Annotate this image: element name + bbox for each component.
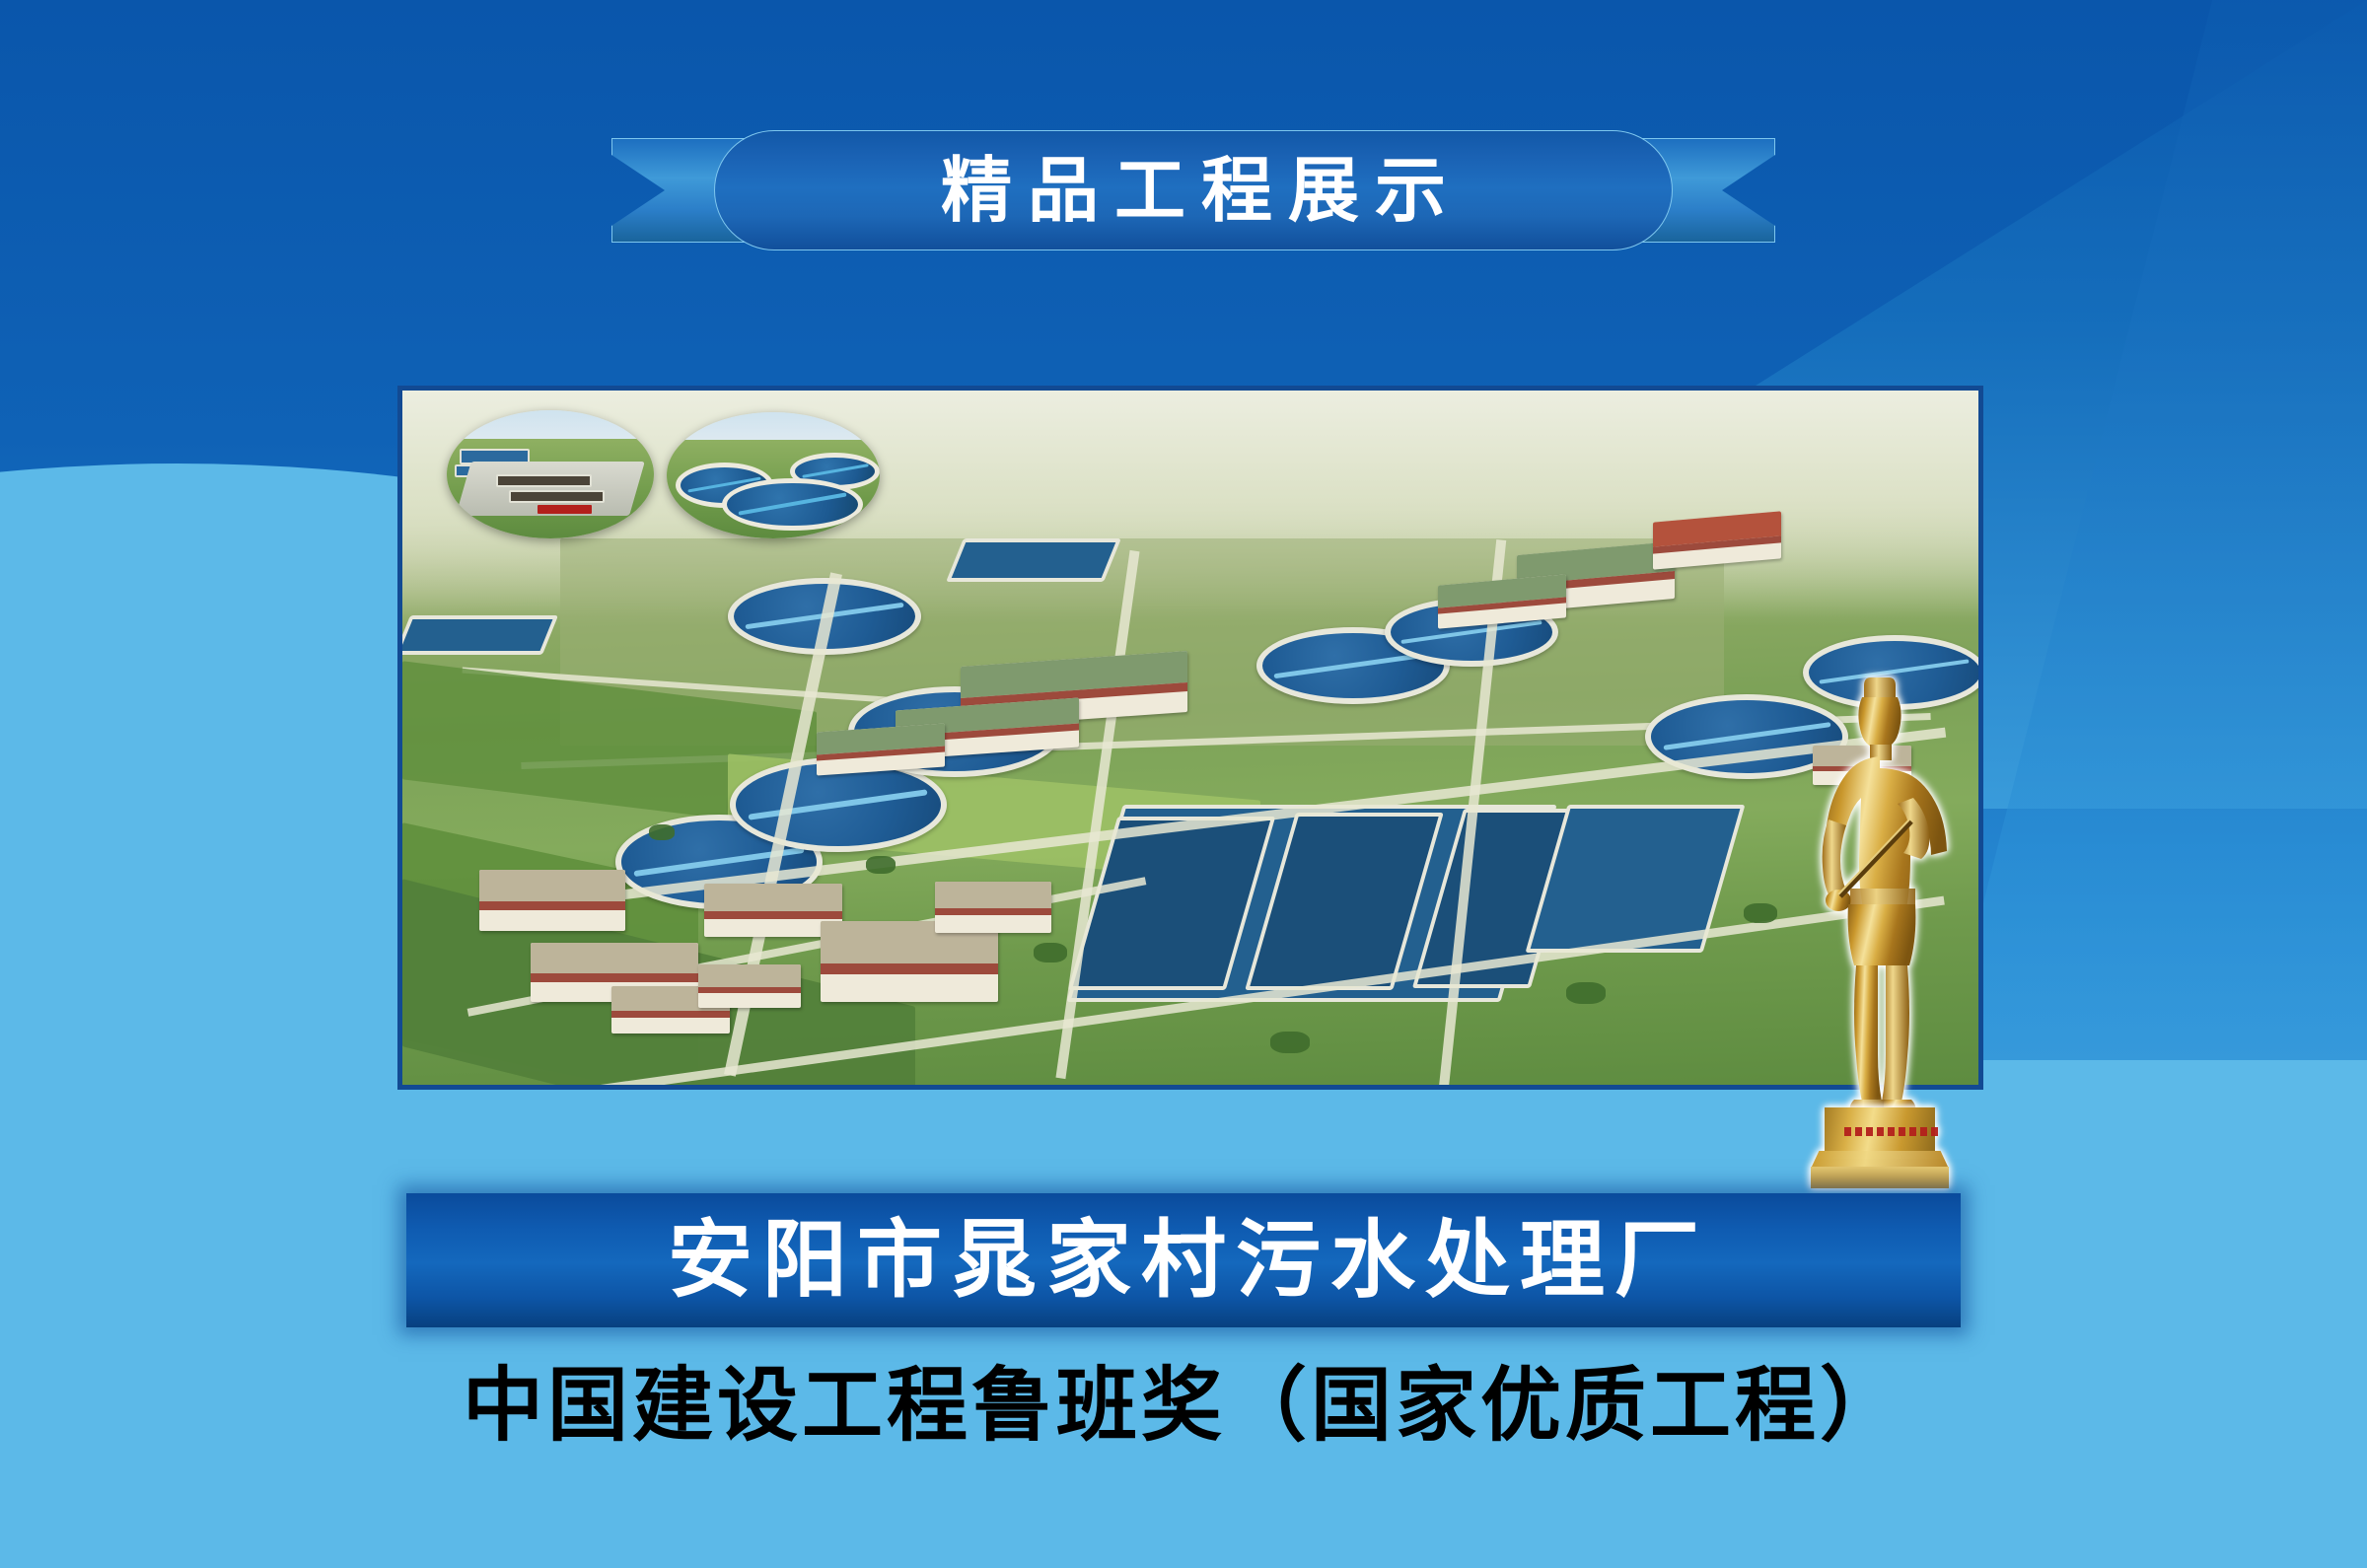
page-title: 精品工程展示 [925,155,1462,226]
banner-pill: 精品工程展示 [714,130,1673,250]
building [817,723,945,775]
trophy-figure-icon [1815,676,1947,1119]
inset-clarifier [722,478,863,532]
trophy-base-block [1825,1107,1935,1153]
aeration-basin-small [946,538,1121,582]
project-caption-bar: 安阳市晁家村污水处理厂 [406,1193,1961,1327]
header-banner: 精品工程展示 [611,130,1775,250]
inset-signboard [538,505,592,514]
luban-award-trophy [1793,676,1969,1188]
building [479,870,625,931]
tree [1270,1032,1310,1053]
tree [1034,943,1067,962]
trophy-base [1811,1107,1949,1188]
building [698,964,801,1008]
award-subtitle: 中国建设工程鲁班奖（国家优质工程） [0,1361,2367,1450]
tree [1566,982,1606,1004]
inset-photo-clarifiers [667,412,880,538]
building [935,882,1051,933]
aeration-basin-small [402,615,558,655]
inset-photo-rect-basins [447,410,654,538]
tree [866,856,896,874]
project-name: 安阳市晁家村污水处理厂 [658,1218,1709,1303]
tree [649,824,675,840]
trophy-base-foot [1811,1167,1949,1188]
aerial-plant-photo [402,391,1978,1085]
inset-tank [509,490,605,503]
tree [1744,903,1777,923]
main-photo [397,386,1983,1090]
trophy-base-inscription [1844,1127,1941,1136]
building-office [821,921,998,1002]
poster-canvas: 精品工程展示 [0,0,2367,1568]
inset-tank [496,474,592,487]
